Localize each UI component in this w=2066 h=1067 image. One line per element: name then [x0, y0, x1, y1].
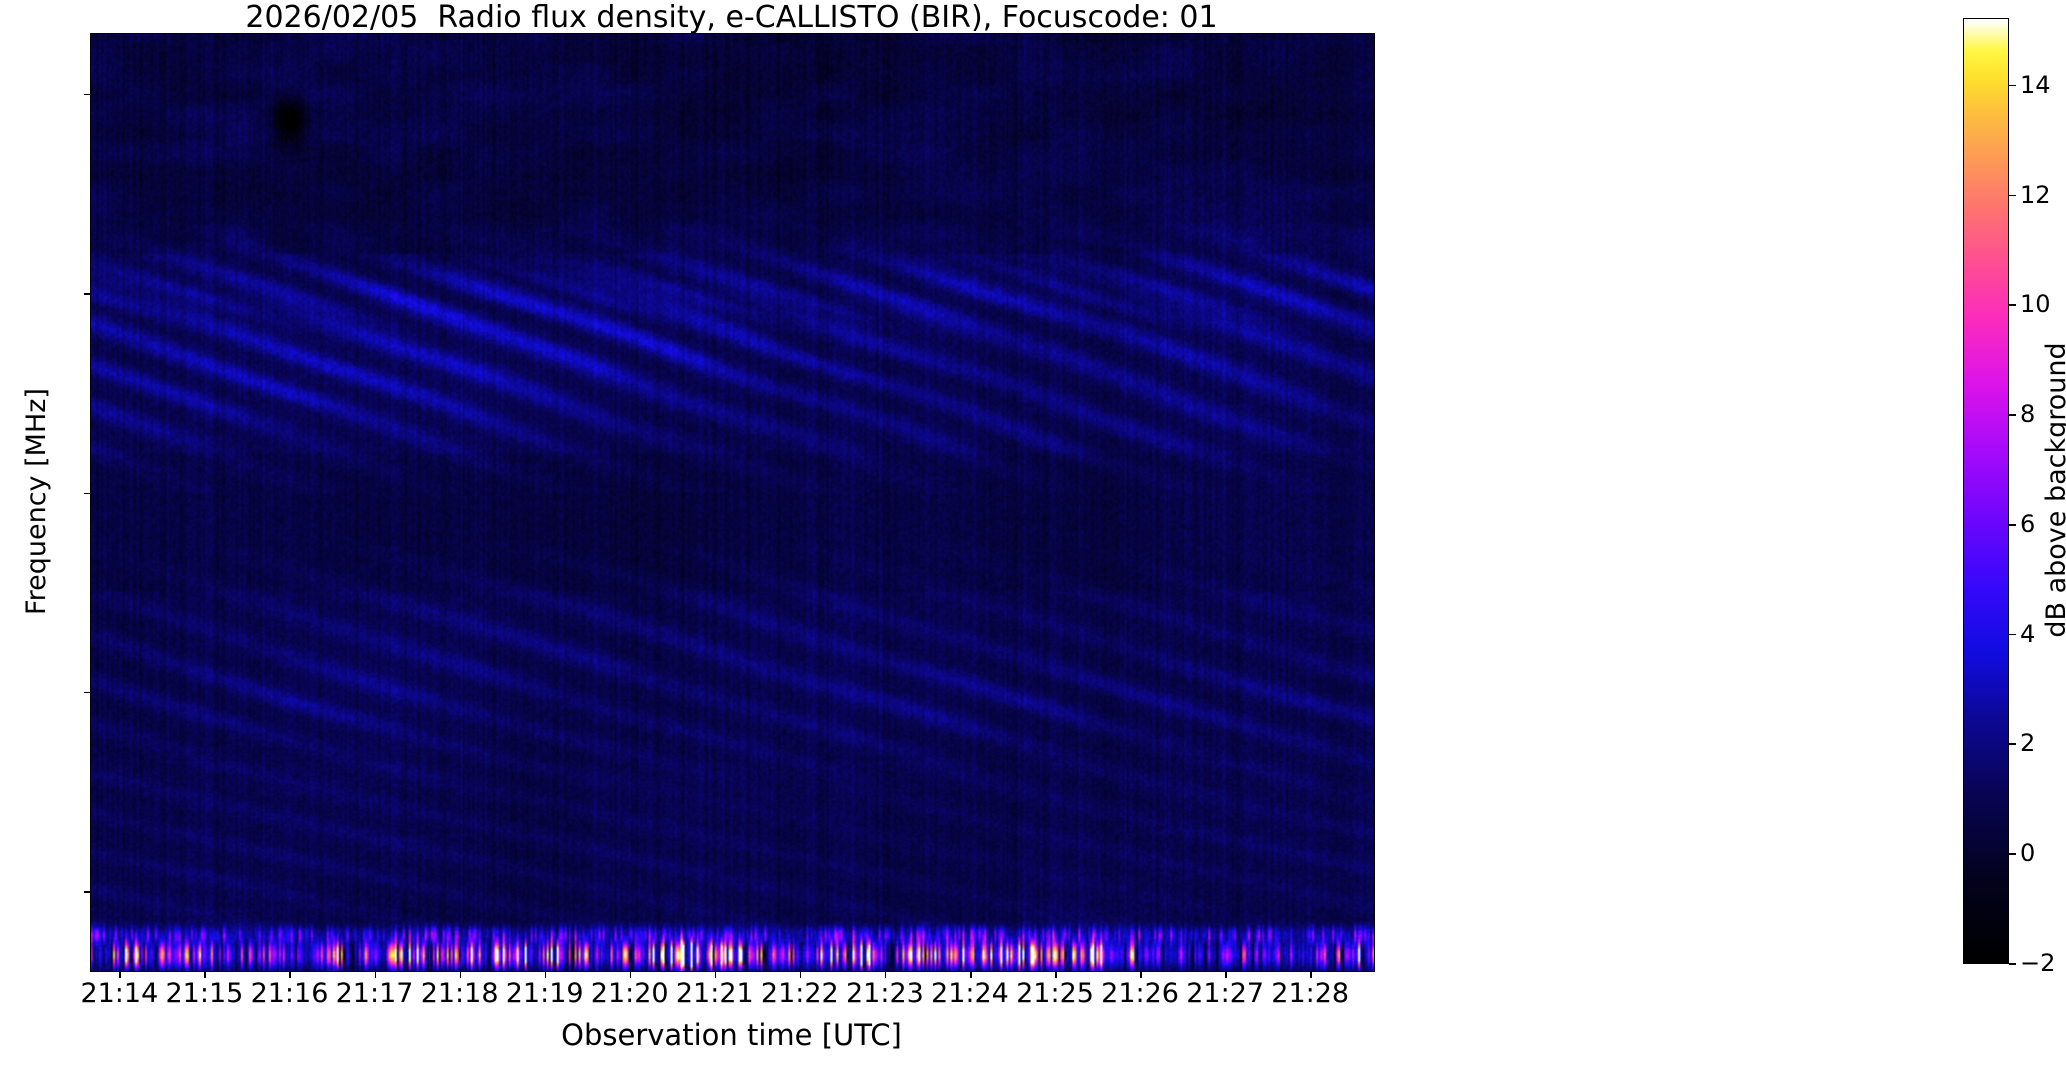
- colorbar-tick-mark: [2009, 85, 2016, 87]
- colorbar-tick-mark: [2009, 743, 2016, 745]
- colorbar-tick-mark: [2009, 414, 2016, 416]
- colorbar-tick-mark: [2009, 195, 2016, 197]
- colorbar-tick-mark: [2009, 524, 2016, 526]
- colorbar-label: dB above background: [2042, 18, 2066, 962]
- colorbar-tick-mark: [2009, 304, 2016, 306]
- colorbar-tick-mark: [2009, 853, 2016, 855]
- colorbar-ticks: 14121086420−2: [0, 0, 2066, 1067]
- colorbar-tick-mark: [2009, 963, 2016, 965]
- colorbar-tick-mark: [2009, 634, 2016, 636]
- figure-canvas: 2026/02/05 Radio flux density, e-CALLIST…: [0, 0, 2066, 1067]
